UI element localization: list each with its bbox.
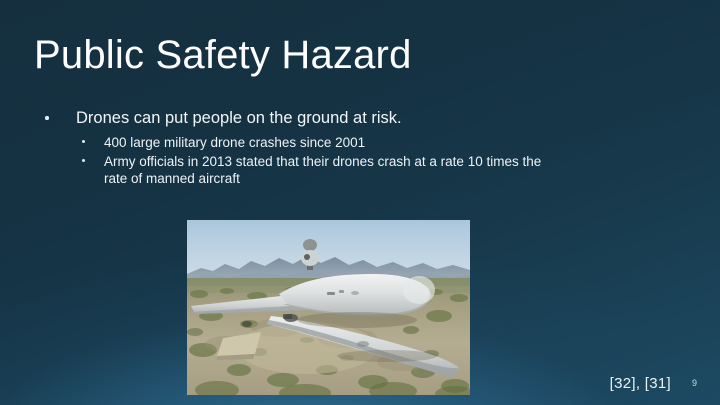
bullet-dot-icon <box>45 116 49 120</box>
bullet-text: 400 large military drone crashes since 2… <box>104 135 365 150</box>
bullet-item-level2: Army officials in 2013 stated that their… <box>78 153 560 187</box>
bullet-text: Drones can put people on the ground at r… <box>76 109 402 127</box>
slide-body: Drones can put people on the ground at r… <box>40 108 560 189</box>
bullet-dot-icon <box>82 140 85 143</box>
slide-number: 9 <box>692 378 697 388</box>
bullet-text: Army officials in 2013 stated that their… <box>104 154 541 186</box>
bullet-item-level2: 400 large military drone crashes since 2… <box>78 134 560 151</box>
citation-references: [32], [31] <box>610 375 671 392</box>
sub-bullet-list: 400 large military drone crashes since 2… <box>40 134 560 187</box>
bullet-dot-icon <box>82 159 85 162</box>
drone-crash-photo <box>187 220 470 395</box>
bullet-item-level1: Drones can put people on the ground at r… <box>40 108 560 129</box>
slide-title: Public Safety Hazard <box>34 33 412 78</box>
presentation-slide: Public Safety Hazard Drones can put peop… <box>0 0 720 405</box>
drone-crash-illustration <box>187 220 470 395</box>
